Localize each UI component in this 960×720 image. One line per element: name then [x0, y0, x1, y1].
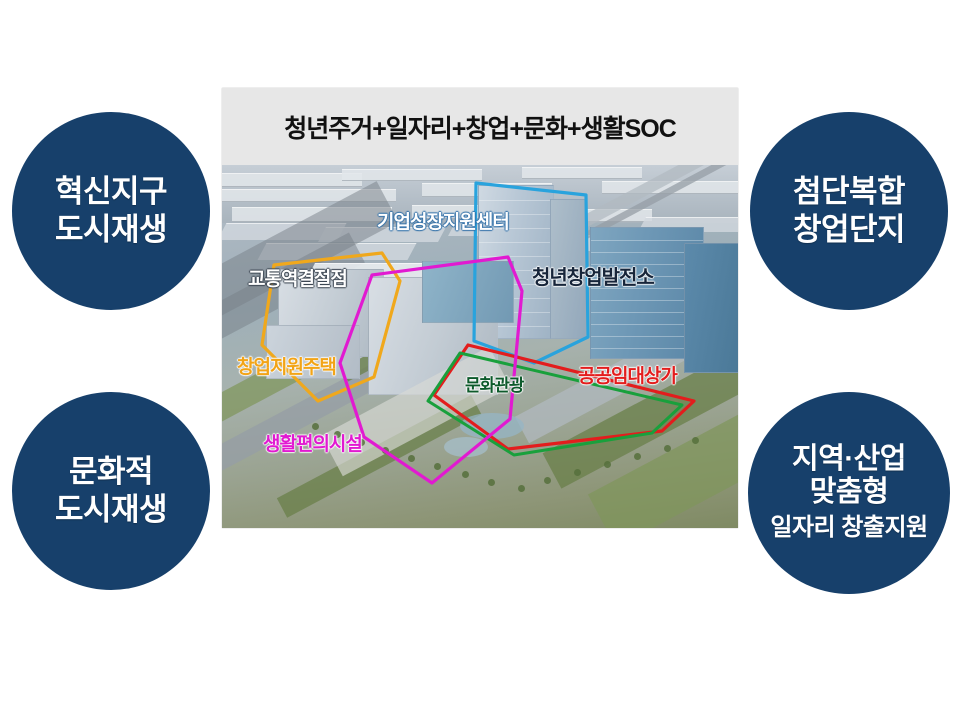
- bubble-cultural-regeneration-label: 문화적 도시재생: [55, 453, 167, 529]
- street-tree: [692, 437, 699, 444]
- street-tree: [574, 469, 581, 476]
- bubble-startup-complex[interactable]: 첨단복합 창업단지: [750, 112, 948, 310]
- bubble-job-creation-line3: 일자리 창출지원: [770, 514, 927, 541]
- label-transport-node: 교통역결절점: [248, 270, 347, 289]
- bubble-innovation-district-label: 혁신지구 도시재생: [55, 173, 167, 249]
- label-startup-support-housing: 창업지원주택: [237, 358, 336, 377]
- bubble-job-creation-line2: 맞춤형: [810, 476, 889, 508]
- aerial-rendering: 교통역결절점 기업성장지원센터 청년창업발전소 창업지원주택 문화관광 공공임대…: [222, 165, 738, 528]
- label-public-rental-retail: 공공임대상가: [578, 367, 677, 386]
- label-business-growth-center: 기업성장지원센터: [377, 213, 509, 232]
- street-tree: [408, 455, 415, 462]
- bubble-job-creation[interactable]: 지역·산업맞춤형일자리 창출지원: [748, 392, 950, 594]
- street-tree: [634, 453, 641, 460]
- bubble-job-creation-label: 지역·산업맞춤형일자리 창출지원: [770, 443, 927, 544]
- street-tree: [462, 471, 469, 478]
- street-tree: [664, 445, 671, 452]
- slide-canvas: 혁신지구 도시재생 문화적 도시재생 첨단복합 창업단지 지역·산업맞춤형일자리…: [0, 0, 960, 720]
- picture-caption: 청년주거+일자리+창업+문화+생활SOC: [284, 109, 676, 145]
- label-life-convenience-facility: 생활편의시설: [263, 435, 362, 454]
- block-life-convenience-wing: [422, 261, 514, 323]
- far-block: [222, 173, 362, 187]
- street-tree: [434, 463, 441, 470]
- bubble-startup-complex-label: 첨단복합 창업단지: [793, 173, 905, 249]
- water-feature: [444, 437, 488, 457]
- tower-youth-startup-wing: [684, 243, 738, 373]
- street-tree: [382, 447, 389, 454]
- far-block: [522, 167, 642, 179]
- water-feature: [460, 413, 524, 439]
- masterplan-picture: 청년주거+일자리+창업+문화+생활SOC: [222, 88, 738, 528]
- label-culture-tourism: 문화관광: [465, 377, 524, 394]
- bubble-cultural-regeneration[interactable]: 문화적 도시재생: [12, 392, 210, 590]
- street-tree: [312, 423, 319, 430]
- bubble-job-creation-line1: 지역·산업: [792, 443, 906, 475]
- street-tree: [518, 485, 525, 492]
- street-tree: [544, 477, 551, 484]
- far-block: [342, 169, 482, 181]
- picture-caption-bar: 청년주거+일자리+창업+문화+생활SOC: [222, 88, 738, 165]
- street-tree: [604, 461, 611, 468]
- label-youth-startup-station: 청년창업발전소: [532, 268, 654, 288]
- street-tree: [488, 479, 495, 486]
- bubble-innovation-district[interactable]: 혁신지구 도시재생: [12, 112, 210, 310]
